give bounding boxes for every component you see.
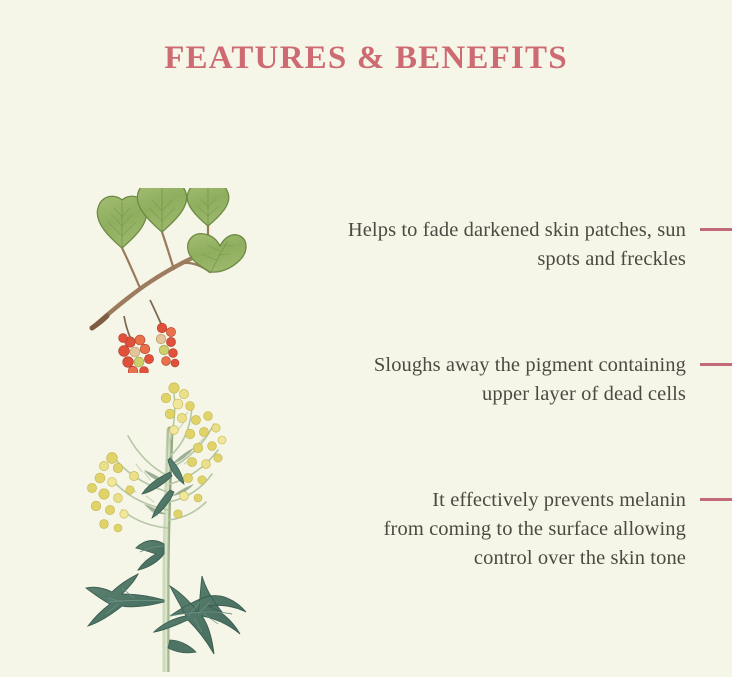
benefit-dash-icon [700, 498, 732, 501]
berry-cluster-right [156, 323, 179, 367]
lobed-leaf-left [86, 574, 164, 626]
benefit-dash-icon [700, 228, 732, 231]
benefit-text: Sloughs away the pigment containing uppe… [374, 351, 700, 409]
flower-buds-left [87, 453, 138, 532]
benefit-text: Helps to fade darkened skin patches, sun… [348, 216, 700, 274]
benefit-text: It effectively prevents melanin from com… [384, 486, 700, 573]
benefit-item: It effectively prevents melanin from com… [384, 486, 732, 573]
mugwort-illustration [78, 372, 263, 672]
lobed-leaf-upper-left [136, 541, 164, 570]
berry-branch-icon [78, 188, 258, 373]
mugwort-icon [78, 372, 263, 672]
berry-cluster-left [119, 334, 154, 373]
page-title: FEATURES & BENEFITS [0, 40, 732, 76]
benefit-item: Sloughs away the pigment containing uppe… [374, 351, 732, 409]
lobed-leaf-bottom [168, 640, 196, 653]
benefit-item: Helps to fade darkened skin patches, sun… [348, 216, 732, 274]
features-benefits-panel: FEATURES & BENEFITS [0, 0, 732, 672]
berry-branch-illustration [78, 188, 258, 373]
benefit-dash-icon [700, 363, 732, 366]
